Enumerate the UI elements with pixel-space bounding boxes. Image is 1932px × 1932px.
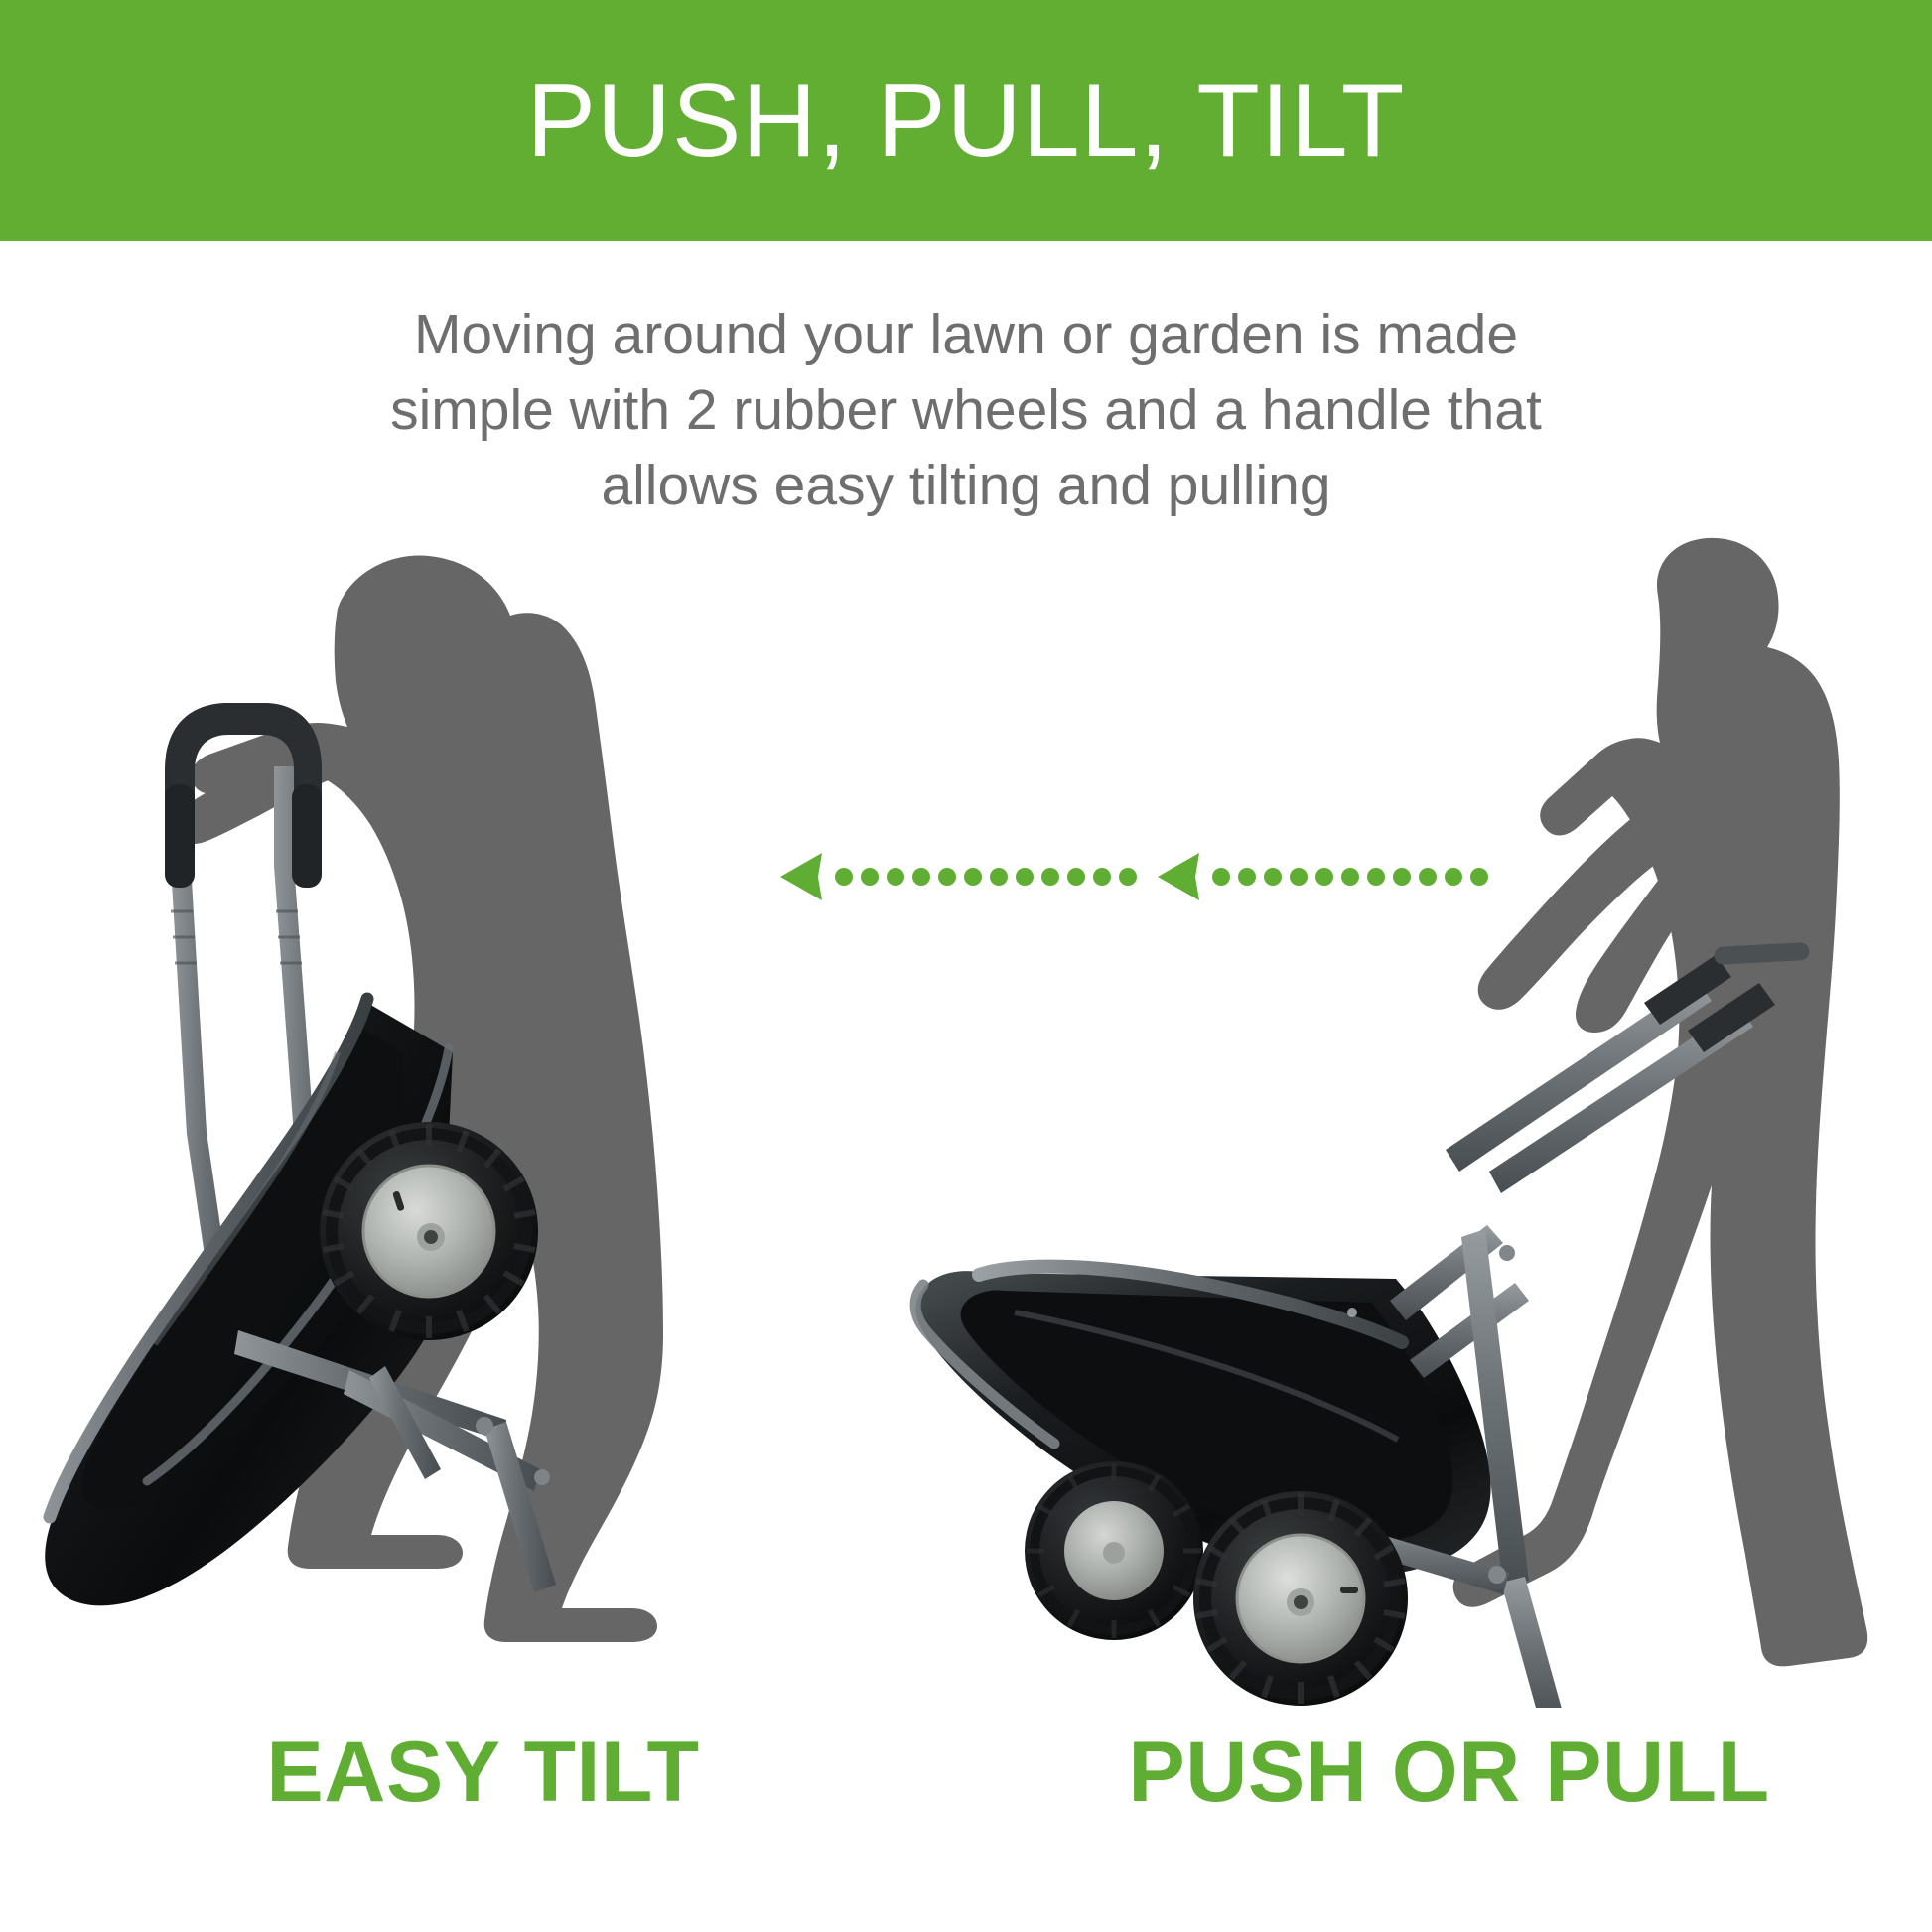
arrowhead-left-1 — [780, 853, 822, 900]
caption-push-or-pull: PUSH OR PULL — [966, 1729, 1932, 1815]
wheel-front-axle-bolt — [1294, 1595, 1308, 1609]
grip-sleeve-left — [165, 784, 195, 888]
dotted-line-1 — [835, 868, 1137, 886]
subtitle-text: Moving around your lawn or garden is mad… — [311, 298, 1621, 523]
easy-tilt-illustration — [40, 536, 864, 1708]
direction-arrows — [774, 849, 1499, 918]
tray-rivet — [1347, 1308, 1357, 1317]
illustration-stage — [0, 536, 1932, 1708]
push-or-pull-illustration — [894, 536, 1906, 1708]
wheel-assembly — [320, 1122, 538, 1340]
subtitle-line-1: Moving around your lawn or garden is mad… — [311, 298, 1621, 373]
subtitle-line-2: simple with 2 rubber wheels and a handle… — [311, 373, 1621, 449]
wheel-rear-hub-center — [1103, 1542, 1125, 1564]
caption-easy-tilt: EASY TILT — [0, 1729, 966, 1815]
scene-captions: EASY TILT PUSH OR PULL — [0, 1729, 1932, 1849]
frame-bolt-a — [1488, 1566, 1506, 1584]
header-banner: PUSH, PULL, TILT — [0, 0, 1932, 241]
frame-bolt-b — [534, 1469, 550, 1485]
wheel-rear-assembly — [1025, 1461, 1203, 1640]
frame-leg-rear — [1501, 1577, 1565, 1708]
wheel-axle-bolt — [424, 1230, 438, 1244]
valve-stem-front — [1340, 1587, 1358, 1593]
grip-sleeve-right — [292, 784, 322, 888]
dotted-line-2 — [1212, 868, 1488, 886]
wheelbarrow-upright — [915, 942, 1810, 1708]
wheel-front-assembly — [1193, 1491, 1408, 1706]
page-title: PUSH, PULL, TILT — [527, 69, 1406, 173]
frame-bolt-a — [476, 1417, 493, 1435]
arrowhead-left-2 — [1158, 853, 1199, 900]
infographic-page: PUSH, PULL, TILT Moving around your lawn… — [0, 0, 1932, 1932]
subtitle-line-3: allows easy tilting and pulling — [311, 449, 1621, 524]
frame-bolt-b — [1499, 1245, 1515, 1261]
